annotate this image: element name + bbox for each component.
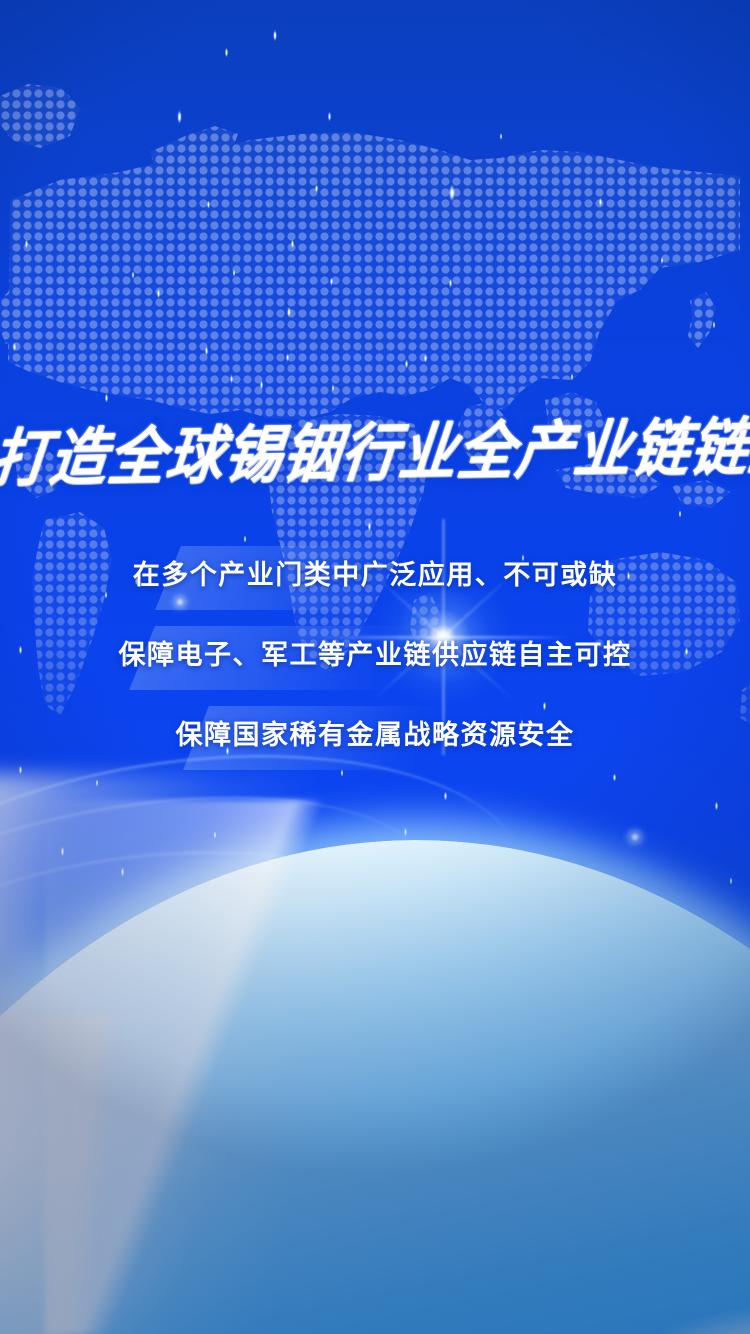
halftone-world-map xyxy=(0,0,750,900)
earth-cloud-texture xyxy=(0,840,750,1334)
poster-root: 打造全球锡铟行业全产业链链主 在多个产业门类中广泛应用、不可或缺 保障电子、军工… xyxy=(0,0,750,1334)
